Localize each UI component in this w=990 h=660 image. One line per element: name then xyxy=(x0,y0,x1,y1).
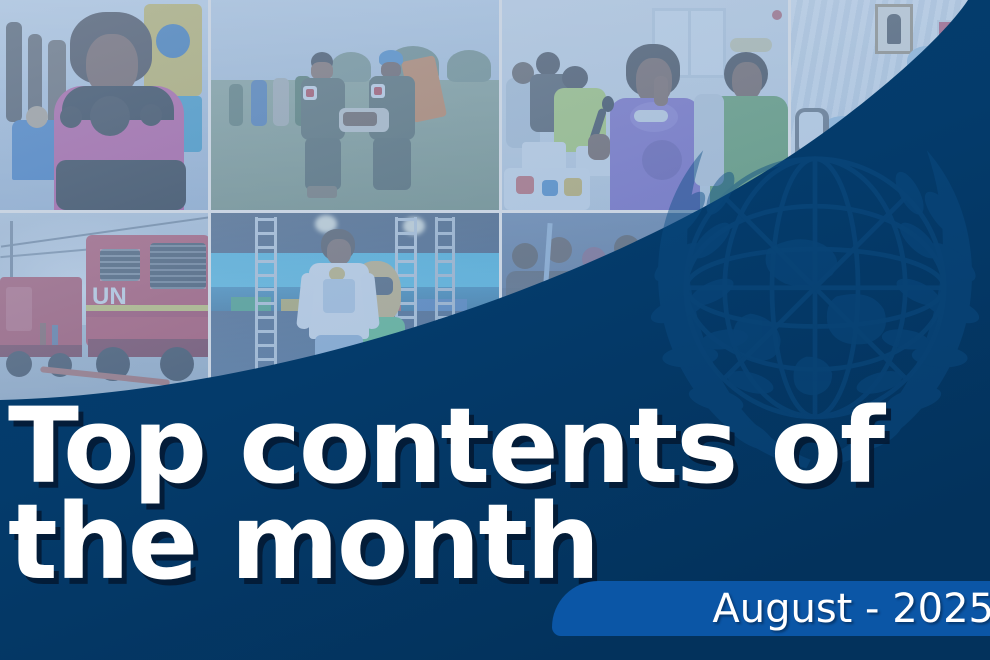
title-line-1: Top contents of xyxy=(8,398,888,494)
title-line-2: the month xyxy=(8,494,888,590)
top-contents-banner: UN xyxy=(0,0,990,660)
photo-peacekeepers-stretcher xyxy=(211,0,499,210)
banner-title: Top contents of the month xyxy=(8,398,888,590)
photo-un-fire-truck: UN xyxy=(0,213,208,400)
photo-stage-performer xyxy=(211,213,499,400)
photo-market-woman xyxy=(0,0,208,210)
date-label: August - 2025 xyxy=(712,586,990,632)
date-badge: August - 2025 xyxy=(552,581,990,636)
